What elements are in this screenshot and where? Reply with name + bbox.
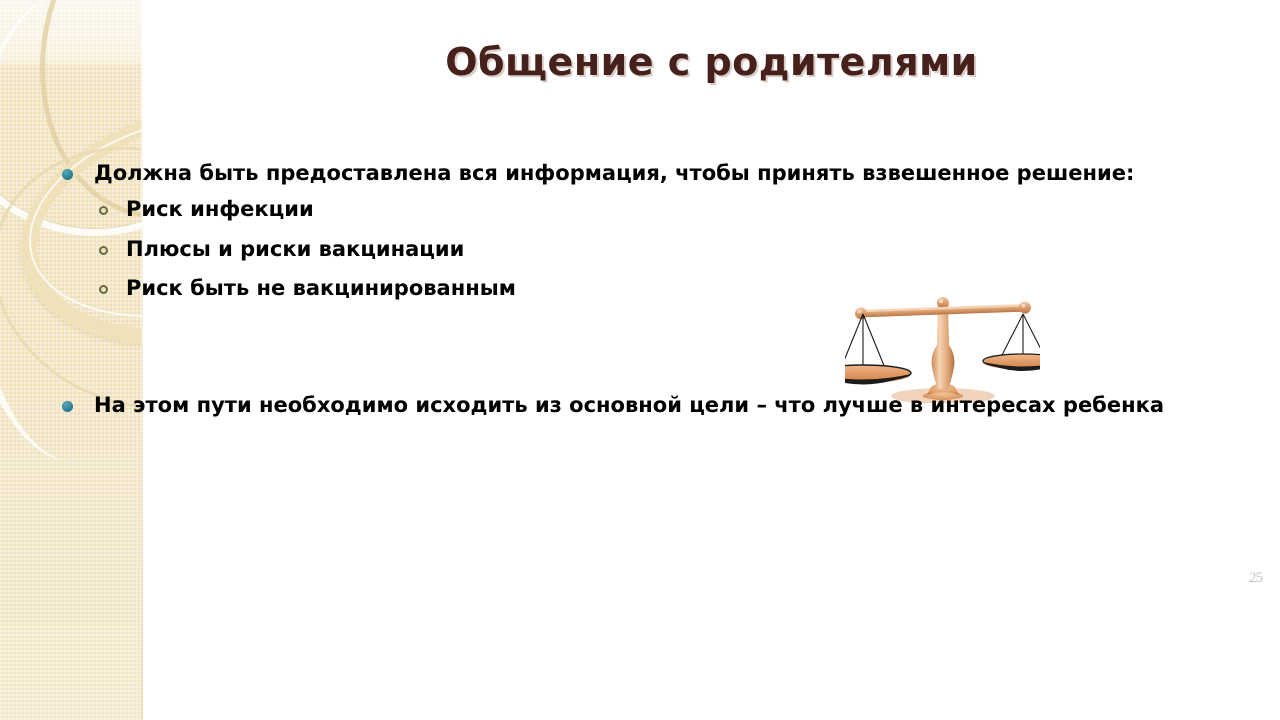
balance-scales-image [845,283,1040,403]
slide-body: Должна быть предоставлена вся информация… [0,0,1280,720]
bullet-item: На этом пути необходимо исходить из осно… [62,392,1242,418]
bullet-dot-icon [62,401,73,412]
sub-bullet-item: Плюсы и риски вакцинации [99,236,999,262]
sub-bullet-ring-icon [99,206,108,215]
page-number: 25 [1249,570,1262,587]
bullet-dot-icon [62,169,73,180]
slide-canvas: Общение с родителями Должна быть предост… [0,0,1280,720]
sub-bullet-ring-icon [99,246,108,255]
sub-bullet-text: Риск быть не вакцинированным [126,275,516,301]
bullet-item: Должна быть предоставлена вся информация… [62,160,1242,186]
sub-bullet-text: Плюсы и риски вакцинации [126,236,464,262]
sub-bullet-text: Риск инфекции [126,196,314,222]
sub-bullet-item: Риск быть не вакцинированным [99,275,999,301]
sub-bullet-item: Риск инфекции [99,196,999,222]
sub-bullet-ring-icon [99,285,108,294]
bullet-text: Должна быть предоставлена вся информация… [94,160,1134,186]
bullet-text: На этом пути необходимо исходить из осно… [94,392,1164,418]
